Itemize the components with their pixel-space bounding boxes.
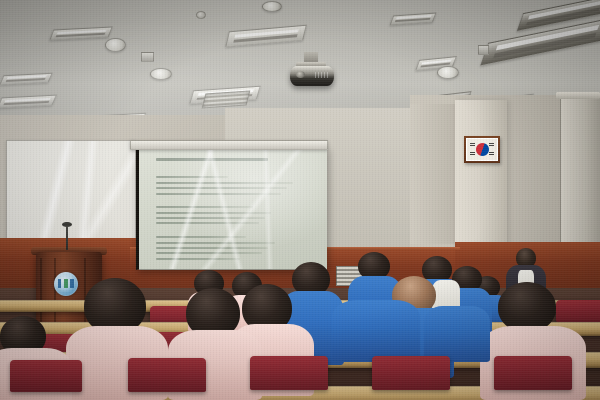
whiteboard	[6, 140, 136, 244]
person-body	[332, 300, 420, 362]
projector-lens-icon	[296, 71, 305, 78]
person-body	[424, 306, 490, 362]
slide-text-line	[156, 182, 293, 184]
slide-text-line	[156, 176, 228, 178]
window-blind-secondary	[410, 104, 458, 244]
slide-text-line	[156, 228, 312, 233]
slide-text-line	[156, 206, 253, 208]
slide-text-line	[156, 252, 262, 254]
trigram-ri-icon	[470, 152, 475, 156]
slide-text-line	[156, 212, 271, 214]
flag-mat	[466, 138, 498, 161]
lecture-room-photo: Lecture room presentation Conference / t…	[0, 0, 600, 400]
slide-text-line	[156, 193, 281, 195]
projector	[290, 66, 334, 86]
chair	[10, 360, 82, 392]
slide-text-line	[156, 187, 287, 189]
blind-roller	[556, 92, 600, 99]
chair	[250, 356, 328, 390]
slide-text-line	[156, 222, 259, 224]
slide-text-line	[156, 217, 265, 219]
slide-text-line	[156, 158, 268, 161]
trigram-gam-icon	[489, 143, 494, 147]
projection-screen-casing	[130, 140, 328, 150]
taeguk-symbol	[476, 143, 489, 156]
projection-screen	[136, 147, 327, 270]
chair	[494, 356, 572, 390]
window-blind	[560, 96, 600, 246]
whiteboard-glare	[6, 140, 136, 244]
trigram-geon-icon	[470, 143, 475, 147]
slide-text-line	[156, 242, 275, 244]
chair	[556, 300, 600, 322]
framed-korean-flag	[464, 136, 500, 163]
slide-text-line	[156, 198, 312, 203]
person-head	[498, 282, 556, 332]
chair	[372, 356, 450, 390]
chair	[128, 358, 206, 392]
institution-emblem	[54, 272, 78, 296]
slide-text-line	[156, 168, 312, 173]
projected-slide-text	[156, 158, 312, 259]
slide-text-line	[156, 258, 240, 260]
microphone-stem	[66, 226, 68, 250]
projector-vent-icon	[315, 72, 329, 78]
slide-text-line	[156, 236, 247, 238]
slide-text-line	[156, 247, 268, 249]
trigram-gon-icon	[489, 152, 494, 156]
emblem-mark-icon	[58, 279, 74, 288]
